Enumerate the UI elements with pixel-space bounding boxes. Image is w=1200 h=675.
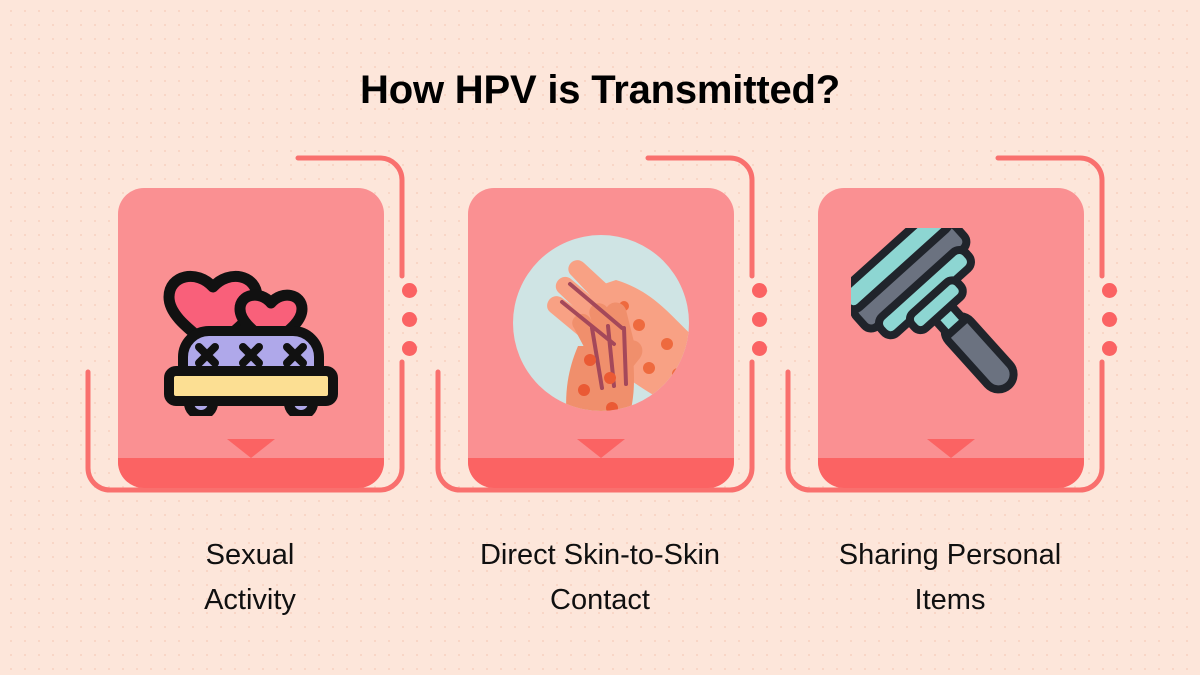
bed-with-hearts-icon	[118, 188, 384, 458]
card-footer-bar	[118, 458, 384, 488]
infographic-canvas: How HPV is Transmitted?	[0, 0, 1200, 675]
connector-dots	[1098, 283, 1120, 356]
caption-skin-to-skin: Direct Skin-to-Skin Contact	[420, 533, 780, 623]
connector-dots	[398, 283, 420, 356]
card-skin-to-skin[interactable]	[430, 150, 770, 520]
caption-sexual-activity: Sexual Activity	[80, 533, 420, 623]
page-title: How HPV is Transmitted?	[0, 68, 1200, 113]
card-personal-items[interactable]	[780, 150, 1120, 520]
card-tile	[818, 188, 1084, 488]
card-sexual-activity[interactable]	[80, 150, 420, 520]
connector-dot	[402, 341, 417, 356]
card-tile	[118, 188, 384, 488]
connector-dot	[752, 341, 767, 356]
razor-icon	[818, 188, 1084, 458]
connector-dot	[1102, 341, 1117, 356]
caption-personal-items: Sharing Personal Items	[780, 533, 1120, 623]
card-notch	[577, 439, 625, 458]
card-notch	[927, 439, 975, 458]
card-notch	[227, 439, 275, 458]
connector-dot	[1102, 283, 1117, 298]
connector-dot	[752, 312, 767, 327]
connector-dot	[1102, 312, 1117, 327]
connector-dot	[402, 312, 417, 327]
card-footer-bar	[468, 458, 734, 488]
card-footer-bar	[818, 458, 1084, 488]
connector-dot	[752, 283, 767, 298]
connector-dot	[402, 283, 417, 298]
card-tile	[468, 188, 734, 488]
connector-dots	[748, 283, 770, 356]
hands-with-rash-icon	[468, 188, 734, 458]
